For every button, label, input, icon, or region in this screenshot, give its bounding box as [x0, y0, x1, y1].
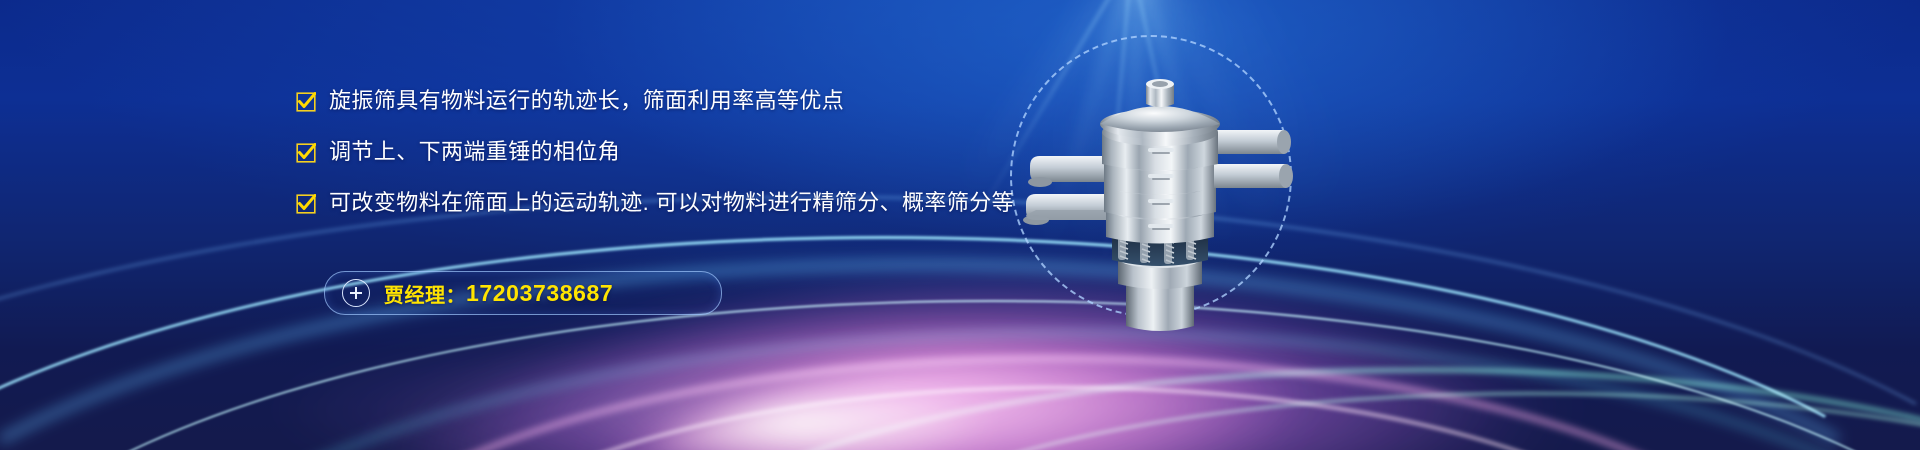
contact-phone-number: 17203738687 — [466, 280, 613, 307]
check-square-icon — [296, 194, 316, 214]
list-item: 旋振筛具有物料运行的轨迹长，筛面利用率高等优点 — [296, 86, 1056, 116]
list-item-label: 旋振筛具有物料运行的轨迹长，筛面利用率高等优点 — [329, 86, 844, 116]
contact-phone-button[interactable]: 贾经理： 17203738687 — [324, 271, 722, 315]
promo-banner: 旋振筛具有物料运行的轨迹长，筛面利用率高等优点 调节上、下两端重锤的相位角 可改… — [0, 0, 1920, 450]
plus-circle-icon — [342, 279, 370, 307]
list-item-label: 调节上、下两端重锤的相位角 — [329, 137, 620, 167]
list-item: 调节上、下两端重锤的相位角 — [296, 137, 1056, 167]
feature-list: 旋振筛具有物料运行的轨迹长，筛面利用率高等优点 调节上、下两端重锤的相位角 可改… — [296, 86, 1056, 239]
contact-name: 贾经理： — [384, 279, 466, 308]
check-square-icon — [296, 92, 316, 112]
check-square-icon — [296, 143, 316, 163]
list-item: 可改变物料在筛面上的运动轨迹. 可以对物料进行精筛分、概率筛分等 — [296, 188, 1056, 218]
list-item-label: 可改变物料在筛面上的运动轨迹. 可以对物料进行精筛分、概率筛分等 — [329, 188, 1014, 218]
